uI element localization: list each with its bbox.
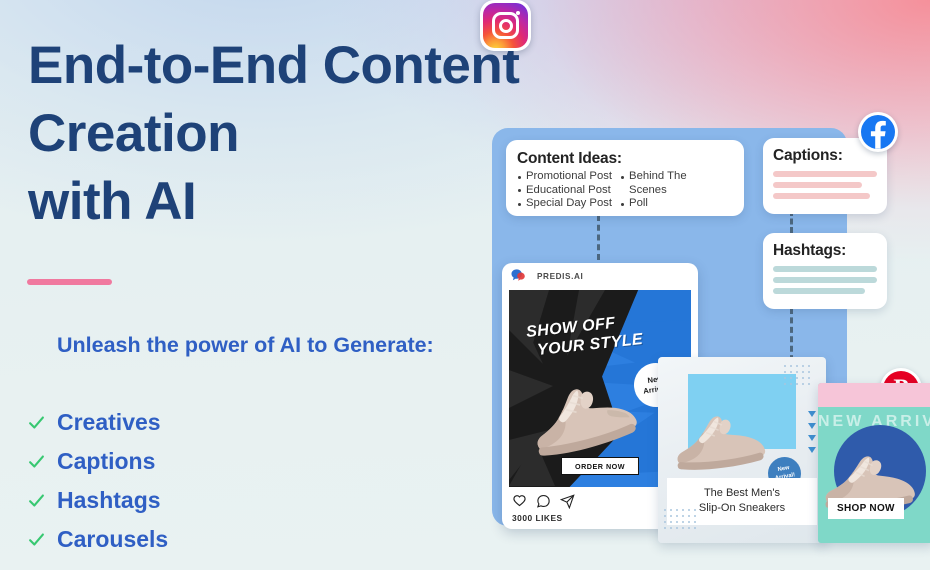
list-item: Educational Post	[517, 184, 612, 198]
list-item: Promotional Post	[517, 170, 612, 184]
content-ideas-card[interactable]: Content Ideas: Promotional Post Educatio…	[506, 140, 744, 216]
ideas-column-right: Behind The Scenes Poll	[620, 170, 687, 211]
card-title: Content Ideas:	[517, 149, 733, 168]
order-now-button[interactable]: ORDER NOW	[561, 457, 639, 475]
placeholder-line	[773, 182, 862, 188]
list-item: Scenes	[620, 184, 687, 198]
list-item: Captions	[28, 442, 428, 481]
check-icon	[28, 414, 45, 431]
accent-divider	[27, 279, 112, 285]
heart-icon[interactable]	[512, 494, 527, 509]
comment-icon[interactable]	[536, 494, 551, 509]
list-item: Hashtags	[28, 481, 428, 520]
brand-name: PREDIS.AI	[537, 272, 583, 281]
carousel-card-3[interactable]: NEW ARRIVAL NEW ARRIVAL SHOP NOW	[818, 383, 930, 543]
hashtags-placeholder-lines	[773, 266, 877, 294]
hashtags-card[interactable]: Hashtags:	[763, 233, 887, 309]
facebook-f-mark	[861, 115, 895, 149]
caption-line-1: The Best Men's	[672, 486, 812, 501]
placeholder-line	[773, 193, 870, 199]
feature-label: Hashtags	[57, 489, 161, 512]
poster-canvas: End-to-End Content Creation with AI Unle…	[0, 0, 930, 570]
placeholder-line	[773, 266, 877, 272]
instagram-glyph	[483, 3, 528, 48]
facebook-glyph	[861, 115, 895, 149]
card-title: Hashtags:	[773, 241, 877, 261]
instagram-icon[interactable]	[480, 0, 531, 51]
placeholder-line	[773, 171, 877, 177]
check-icon	[28, 531, 45, 548]
dot-grid-decoration-bottom	[664, 509, 704, 537]
check-icon	[28, 492, 45, 509]
subheading-line-2: Generate:	[333, 333, 433, 357]
ideas-column-left: Promotional Post Educational Post Specia…	[517, 170, 612, 211]
card-title: Captions:	[773, 146, 877, 166]
placeholder-line	[773, 277, 877, 283]
triangle-decoration-right	[808, 411, 816, 453]
feature-label: Creatives	[57, 411, 161, 434]
check-icon	[28, 453, 45, 470]
predis-logo-icon	[511, 268, 530, 285]
carousel-card-2[interactable]: New Arrival! The Best Men's Slip-On Snea…	[658, 357, 826, 543]
list-item: Special Day Post	[517, 197, 612, 211]
share-icon[interactable]	[560, 494, 575, 509]
instagram-dot	[516, 11, 520, 15]
instagram-lens	[499, 19, 513, 33]
subheading-line-1: Unleash the power of AI to	[57, 333, 327, 357]
feature-label: Captions	[57, 450, 155, 473]
list-item: Behind The	[620, 170, 687, 184]
dot-grid-decoration	[784, 365, 818, 399]
placeholder-line	[773, 288, 865, 294]
facebook-icon[interactable]	[858, 112, 898, 152]
shop-now-button[interactable]: SHOP NOW	[828, 498, 904, 519]
list-item: Poll	[620, 197, 687, 211]
list-item: Creatives	[28, 403, 428, 442]
captions-placeholder-lines	[773, 171, 877, 199]
subheading: Unleash the power of AI to Generate:	[57, 326, 457, 364]
product-illustration: Content Ideas: Promotional Post Educatio…	[480, 0, 930, 570]
connector-line	[597, 215, 600, 260]
feature-list: Creatives Captions Hashtags Carousels	[28, 403, 428, 559]
feature-label: Carousels	[57, 528, 168, 551]
list-item: Carousels	[28, 520, 428, 559]
post-header: PREDIS.AI	[502, 263, 698, 290]
